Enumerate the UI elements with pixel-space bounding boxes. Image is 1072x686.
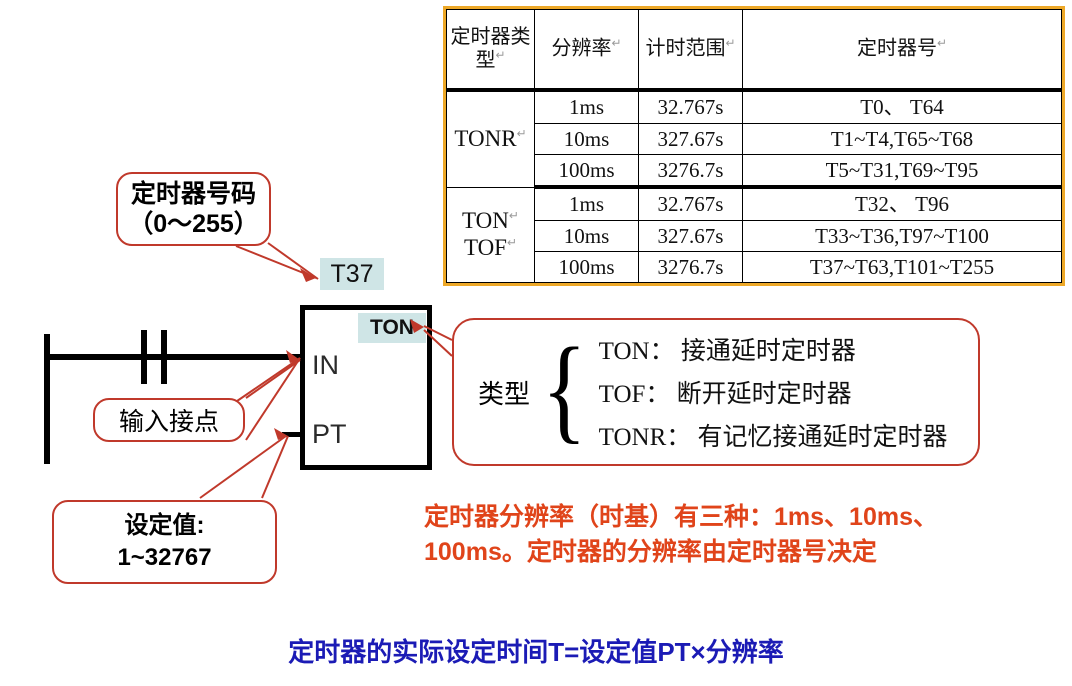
timer-types-list: TON： 接通延时定时器 TOF： 断开延时定时器 TONR： 有记忆接通延时定…	[599, 331, 948, 453]
pin-label-pt: PT	[312, 419, 347, 450]
table-row: 100ms 3276.7s T5~T31,T69~T95	[447, 154, 1062, 187]
pt-pin-wire	[282, 432, 302, 437]
brace-icon: {	[542, 341, 587, 438]
cell-resolution: 1ms	[535, 90, 639, 123]
column-header-type: 定时器类型↵	[447, 10, 535, 91]
cell-range: 3276.7s	[639, 154, 743, 187]
column-header-resolution: 分辨率↵	[535, 10, 639, 91]
contact-icon-right	[161, 330, 167, 384]
table-row: 10ms 327.67s T33~T36,T97~T100	[447, 220, 1062, 251]
contact-icon	[141, 330, 147, 384]
table-row: TONR↵ 1ms 32.767s T0、 T64	[447, 90, 1062, 123]
cell-range: 32.767s	[639, 187, 743, 220]
cell-resolution: 1ms	[535, 187, 639, 220]
timer-type-item: TOF： 断开延时定时器	[599, 374, 948, 410]
diagram-canvas: 定时器类型↵ 分辨率↵ 计时范围↵ 定时器号↵ TONR↵ 1ms 32.767…	[0, 0, 1072, 686]
cell-range: 3276.7s	[639, 251, 743, 282]
callout-timer-number: 定时器号码 （0～255）	[116, 172, 271, 246]
cell-resolution: 100ms	[535, 154, 639, 187]
table-row: 100ms 3276.7s T37~T63,T101~T255	[447, 251, 1062, 282]
group-label-ton-tof: TON↵ TOF↵	[447, 187, 535, 282]
callout-preset-value-line1: 设定值:	[125, 510, 205, 542]
formula-text: 定时器的实际设定时间T=设定值PT×分辨率	[0, 632, 1072, 669]
cell-numbers: T37~T63,T101~T255	[743, 251, 1062, 282]
callout-preset-value: 设定值: 1~32767	[52, 500, 277, 584]
callout-timer-number-line2: （0～255）	[128, 209, 259, 240]
cell-numbers: T33~T36,T97~T100	[743, 220, 1062, 251]
cell-numbers: T1~T4,T65~T68	[743, 123, 1062, 154]
cell-numbers: T0、 T64	[743, 90, 1062, 123]
callout-input-contact-text: 输入接点	[119, 402, 219, 438]
callout-preset-value-line2: 1~32767	[117, 542, 211, 574]
pin-label-in: IN	[312, 350, 339, 381]
resolution-note: 定时器分辨率（时基）有三种：1ms、10ms、100ms。定时器的分辨率由定时器…	[424, 500, 984, 569]
cell-numbers: T32、 T96	[743, 187, 1062, 220]
table-row: TON↵ TOF↵ 1ms 32.767s T32、 T96	[447, 187, 1062, 220]
column-header-range: 计时范围↵	[639, 10, 743, 91]
cell-range: 327.67s	[639, 220, 743, 251]
cell-range: 32.767s	[639, 90, 743, 123]
callout-timer-number-line1: 定时器号码	[131, 179, 256, 210]
callout-timer-types: 类型 { TON： 接通延时定时器 TOF： 断开延时定时器 TONR： 有记忆…	[452, 318, 980, 466]
cell-resolution: 10ms	[535, 123, 639, 154]
cell-resolution: 100ms	[535, 251, 639, 282]
cell-range: 327.67s	[639, 123, 743, 154]
timer-types-inner: 类型 { TON： 接通延时定时器 TOF： 断开延时定时器 TONR： 有记忆…	[454, 331, 978, 453]
cell-resolution: 10ms	[535, 220, 639, 251]
cell-numbers: T5~T31,T69~T95	[743, 154, 1062, 187]
table-header-row: 定时器类型↵ 分辨率↵ 计时范围↵ 定时器号↵	[447, 10, 1062, 91]
timer-type-badge: TON	[358, 313, 426, 343]
group-label-tonr: TONR↵	[447, 90, 535, 187]
callout-input-contact: 输入接点	[93, 398, 245, 442]
spec-table-grid: 定时器类型↵ 分辨率↵ 计时范围↵ 定时器号↵ TONR↵ 1ms 32.767…	[446, 9, 1062, 283]
column-header-numbers: 定时器号↵	[743, 10, 1062, 91]
timer-spec-table: 定时器类型↵ 分辨率↵ 计时范围↵ 定时器号↵ TONR↵ 1ms 32.767…	[443, 6, 1065, 286]
table-row: 10ms 327.67s T1~T4,T65~T68	[447, 123, 1062, 154]
rung-wire	[44, 354, 302, 360]
timer-number-badge: T37	[320, 258, 384, 290]
timer-type-item: TON： 接通延时定时器	[599, 331, 948, 367]
timer-types-label: 类型	[478, 374, 530, 411]
timer-type-item: TONR： 有记忆接通延时定时器	[599, 417, 948, 453]
